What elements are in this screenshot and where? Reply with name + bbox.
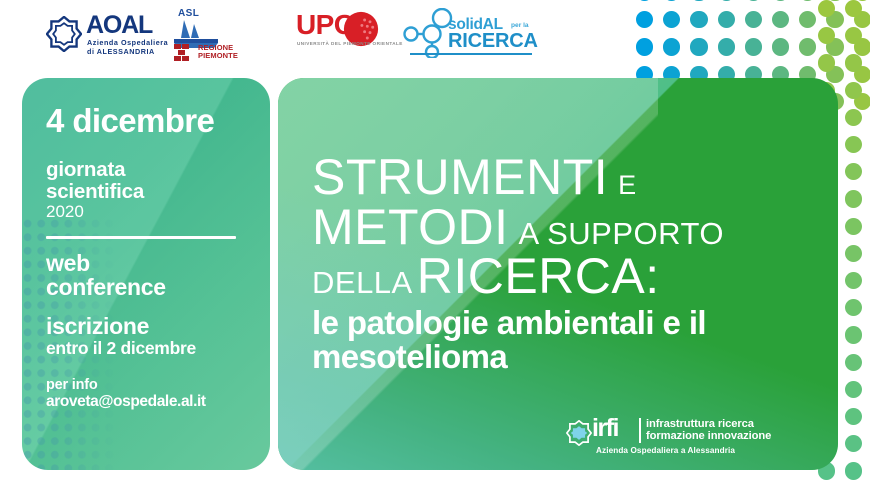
irfi-line-2: formazione innovazione — [646, 430, 771, 443]
solidal-perla-text: per la — [511, 22, 529, 29]
decorative-dot — [845, 163, 862, 180]
solidal-ricerca-text: RICERCA — [448, 31, 538, 51]
decorative-dot — [845, 381, 862, 398]
decorative-dot — [845, 272, 862, 289]
decorative-dot — [845, 299, 862, 316]
solidal-underline — [410, 53, 532, 55]
aoal-logo: AOAL Azienda Ospedaliera di ALESSANDRIA — [46, 14, 186, 58]
irfi-line-3: Azienda Ospedaliera a Alessandria — [596, 446, 735, 455]
event-info-content: 4 dicembre giornata scientifica 2020 web… — [46, 104, 260, 411]
event-poster: AOAL Azienda Ospedaliera di ALESSANDRIA … — [0, 0, 870, 490]
decorative-dot — [845, 245, 862, 262]
subtitle-line-2: mesotelioma — [312, 340, 820, 375]
decorative-dot — [845, 354, 862, 371]
divider-rule — [46, 236, 236, 239]
solidal-logo: solidAL per la RICERCA — [402, 6, 562, 64]
title-ricerca: RICERCA: — [417, 248, 660, 304]
title-line-1: STRUMENTIE — [312, 154, 820, 201]
irfi-logo: irfi infrastruttura ricerca formazione i… — [566, 416, 781, 460]
event-year: 2020 — [46, 203, 260, 222]
decorative-dot — [845, 462, 862, 479]
title-e: E — [618, 170, 637, 200]
event-format-line2: conference — [46, 276, 260, 299]
decorative-dot — [845, 218, 862, 235]
title-line-3: DELLARICERCA: — [312, 253, 820, 300]
asl-al-logo: ASL REGIONE PIEMONTE — [170, 8, 246, 68]
title-line-2: METODIA SUPPORTO — [312, 204, 820, 251]
decorative-dot — [845, 82, 862, 99]
aoal-subtitle-line1: Azienda Ospedaliera — [87, 38, 168, 47]
event-type-line2: scientifica — [46, 181, 260, 203]
irfi-divider — [639, 418, 641, 443]
partner-logos-bar: AOAL Azienda Ospedaliera di ALESSANDRIA … — [0, 0, 870, 74]
decorative-dot — [845, 190, 862, 207]
main-title-card: STRUMENTIE METODIA SUPPORTO DELLARICERCA… — [278, 78, 838, 470]
registration-title: iscrizione — [46, 315, 260, 338]
decorative-dot — [845, 408, 862, 425]
aoal-subtitle-line2: di ALESSANDRIA — [87, 47, 155, 56]
event-info-card: 4 dicembre giornata scientifica 2020 web… — [22, 78, 270, 470]
upo-tagline: UNIVERSITÀ DEL PIEMONTE ORIENTALE — [297, 41, 403, 46]
info-label: per info — [46, 377, 260, 394]
irfi-star-icon — [566, 420, 592, 446]
irfi-wordmark: irfi — [592, 416, 618, 441]
contact-email[interactable]: aroveta@ospedale.al.it — [46, 393, 260, 411]
decorative-dot — [845, 109, 862, 126]
event-type-line1: giornata — [46, 159, 260, 181]
event-date: 4 dicembre — [46, 104, 260, 137]
title-metodi: METODI — [312, 199, 509, 255]
upo-logo: UPO UNIVERSITÀ DEL PIEMONTE ORIENTALE — [296, 14, 408, 58]
registration-deadline: entro il 2 dicembre — [46, 339, 260, 358]
main-title-block: STRUMENTIE METODIA SUPPORTO DELLARICERCA… — [312, 154, 820, 375]
title-a-supporto: A SUPPORTO — [519, 216, 724, 251]
subtitle-line-1: le patologie ambientali e il — [312, 306, 820, 341]
regione-piemonte-line2: PIEMONTE — [198, 52, 238, 60]
decorative-dot — [845, 136, 862, 153]
aoal-star-icon — [46, 16, 82, 52]
decorative-dot — [845, 435, 862, 452]
aoal-wordmark: AOAL — [86, 13, 152, 38]
decorative-dot — [845, 326, 862, 343]
title-strumenti: STRUMENTI — [312, 149, 608, 205]
title-della: DELLA — [312, 265, 413, 300]
event-format-line1: web — [46, 252, 260, 275]
